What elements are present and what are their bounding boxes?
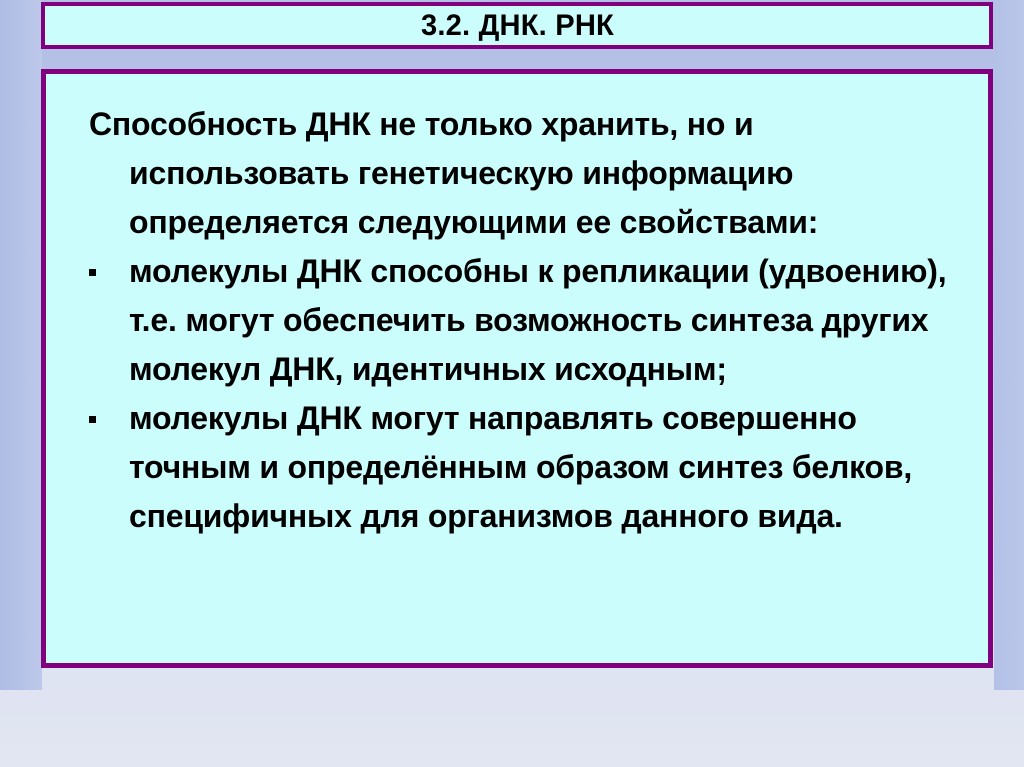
list-item-label: молекулы ДНК могут направлять совершенно… bbox=[129, 394, 982, 541]
intro-paragraph: Способность ДНК не только хранить, но и … bbox=[46, 100, 988, 247]
list-item: молекулы ДНК способны к репликации (удво… bbox=[46, 247, 988, 394]
slide-title: 3.2. ДНК. РНК bbox=[420, 11, 613, 41]
right-background-band bbox=[994, 0, 1024, 690]
square-bullet-icon bbox=[89, 416, 96, 423]
square-bullet-icon bbox=[89, 269, 96, 276]
content-text-block: Способность ДНК не только хранить, но и … bbox=[46, 100, 988, 541]
left-background-band bbox=[0, 0, 42, 690]
list-item: молекулы ДНК могут направлять совершенно… bbox=[46, 394, 988, 541]
content-panel: Способность ДНК не только хранить, но и … bbox=[41, 69, 993, 668]
list-item-label: молекулы ДНК способны к репликации (удво… bbox=[129, 247, 982, 394]
title-panel: 3.2. ДНК. РНК bbox=[41, 2, 993, 49]
slide-canvas: 3.2. ДНК. РНК Способность ДНК не только … bbox=[0, 0, 1024, 767]
